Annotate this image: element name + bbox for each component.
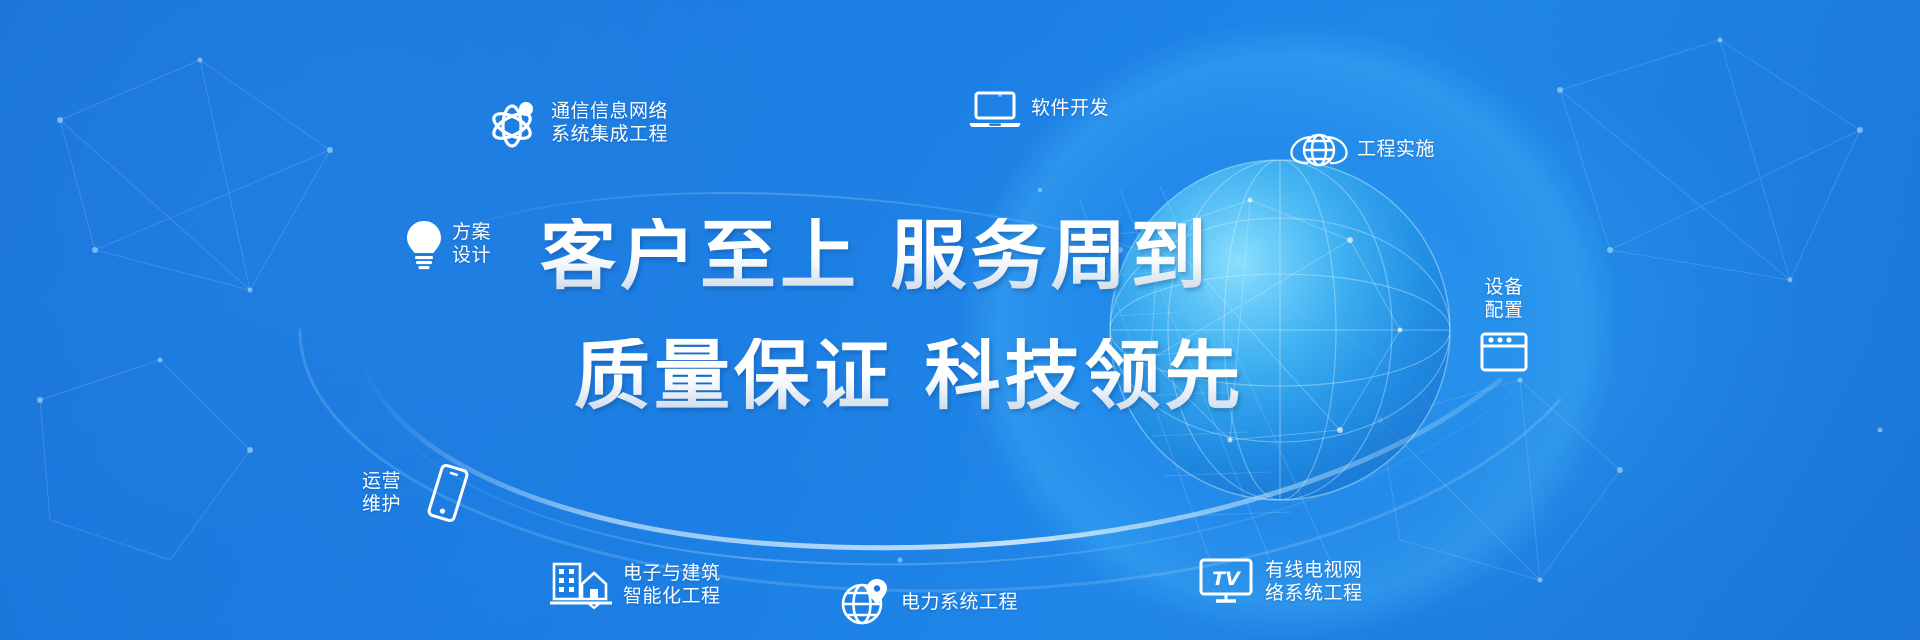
feature-label-building-intelligence: 电子与建筑 智能化工程 — [623, 562, 721, 608]
feature-label-line2: 设计 — [452, 244, 491, 266]
feature-label-solution-design: 方案 设计 — [452, 221, 491, 267]
orbit-globe-icon — [1290, 128, 1348, 172]
feature-label-line1: 通信信息网络 — [551, 100, 668, 122]
headline-line-1: 客户至上 服务周到 — [540, 218, 1400, 294]
feature-label-software-development: 软件开发 — [1031, 97, 1109, 120]
feature-label-line1: 方案 — [452, 221, 491, 243]
feature-label-communication-network: 通信信息网络 系统集成工程 — [551, 100, 668, 146]
feature-label-line2: 系统集成工程 — [551, 123, 668, 145]
feature-label-line2: 智能化工程 — [623, 585, 721, 607]
tv-icon: TV — [1196, 556, 1256, 608]
atom-network-icon — [486, 96, 542, 150]
headline-block: 客户至上 服务周到 质量保证 科技领先 — [540, 218, 1400, 414]
feature-label-power-system: 电力系统工程 — [901, 591, 1018, 614]
headline-line-2: 质量保证 科技领先 — [574, 338, 1400, 414]
feature-solution-design[interactable]: 方案 设计 — [405, 218, 491, 270]
svg-text:TV: TV — [1212, 568, 1241, 590]
smartphone-icon — [422, 462, 474, 524]
feature-label-line1: 设备 — [1484, 276, 1523, 298]
feature-operation-maintenance[interactable]: 运营 维护 — [362, 462, 474, 524]
feature-label-engineering-implementation: 工程实施 — [1357, 138, 1435, 161]
feature-equipment-configuration[interactable]: 设备 配置 — [1478, 276, 1530, 379]
globe-pin-icon — [838, 578, 892, 628]
feature-communication-network[interactable]: 通信信息网络 系统集成工程 — [486, 96, 668, 150]
feature-label-equipment-configuration: 设备 配置 — [1478, 276, 1530, 322]
feature-label-line1: 运营 — [362, 470, 401, 492]
lightbulb-icon — [405, 218, 443, 270]
feature-engineering-implementation[interactable]: 工程实施 — [1290, 128, 1435, 172]
feature-label-line2: 配置 — [1484, 299, 1523, 321]
laptop-icon — [968, 88, 1022, 130]
feature-building-intelligence[interactable]: 电子与建筑 智能化工程 — [548, 560, 721, 610]
feature-cable-tv-network[interactable]: TV 有线电视网 络系统工程 — [1196, 556, 1363, 608]
feature-software-development[interactable]: 软件开发 — [968, 88, 1109, 130]
server-rack-icon — [1478, 330, 1530, 374]
feature-label-line1: 电子与建筑 — [623, 562, 721, 584]
feature-power-system[interactable]: 电力系统工程 — [838, 578, 1018, 628]
feature-label-line2: 维护 — [362, 493, 401, 515]
feature-label-operation-maintenance: 运营 维护 — [362, 470, 401, 516]
feature-label-line1: 有线电视网 — [1265, 559, 1363, 581]
promo-banner: 客户至上 服务周到 质量保证 科技领先 通信信息网络 系统集成工程 软件开发 — [0, 0, 1920, 640]
building-house-icon — [548, 560, 614, 610]
feature-label-line2: 络系统工程 — [1265, 582, 1363, 604]
feature-label-cable-tv-network: 有线电视网 络系统工程 — [1265, 559, 1363, 605]
